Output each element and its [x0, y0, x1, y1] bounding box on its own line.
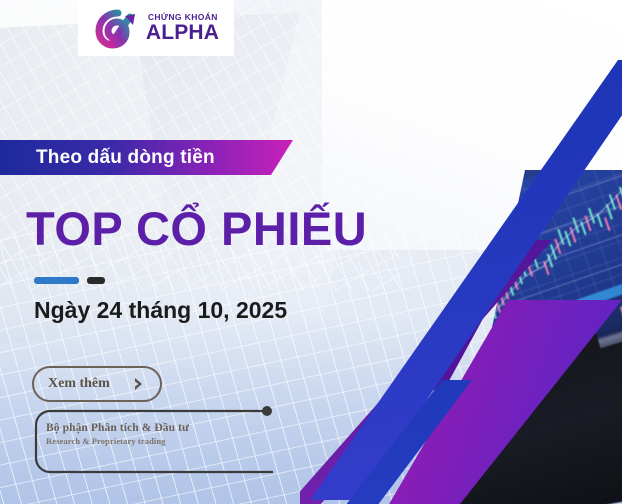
alpha-ribbon-logo-icon — [95, 6, 141, 50]
chevron-right-icon — [131, 376, 147, 392]
credit-block: Bộ phận Phân tích & Đầu tư Research & Pr… — [46, 422, 189, 446]
date-subtitle: Ngày 24 tháng 10, 2025 — [34, 297, 287, 324]
title-divider — [34, 277, 105, 284]
brand-line-2: ALPHA — [146, 22, 219, 43]
divider-dash-secondary — [87, 277, 105, 284]
brand-logo[interactable]: CHỨNG KHOÁN ALPHA — [78, 0, 234, 56]
divider-dash-primary — [34, 277, 79, 284]
page-title: TOP CỔ PHIẾU — [26, 205, 367, 252]
read-more-label: Xem thêm — [48, 376, 110, 392]
credit-line-vi: Bộ phận Phân tích & Đầu tư — [46, 422, 189, 434]
poster-canvas: CHỨNG KHOÁN ALPHA Theo dấu dòng tiền TOP… — [0, 0, 622, 504]
tagline-text: Theo dấu dòng tiền — [36, 147, 215, 169]
brand-line-1: CHỨNG KHOÁN — [148, 13, 219, 22]
read-more-button[interactable]: Xem thêm — [32, 366, 162, 402]
brand-wordmark: CHỨNG KHOÁN ALPHA — [146, 13, 219, 44]
credit-line-en: Research & Proprietary trading — [46, 436, 189, 446]
tagline-ribbon: Theo dấu dòng tiền — [0, 140, 293, 175]
